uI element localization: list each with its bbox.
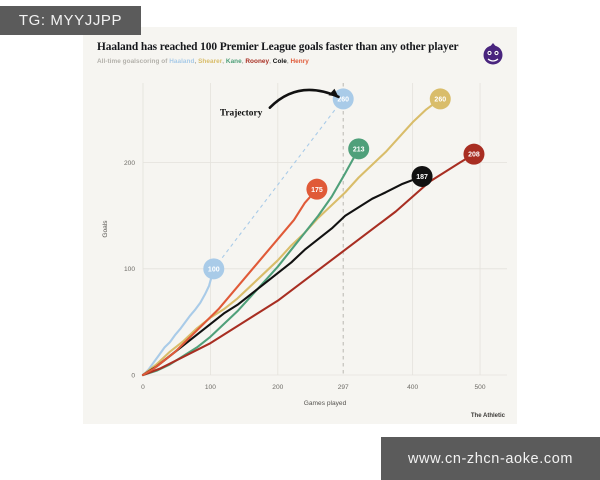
chart-subtitle: All-time goalscoring of Haaland, Shearer… bbox=[97, 58, 503, 65]
y-axis-label: Goals bbox=[102, 220, 109, 238]
tg-tag-overlay: TG: MYYJJPP bbox=[0, 6, 141, 35]
legend-name-shearer: Shearer bbox=[198, 58, 222, 65]
x-axis-label: Games played bbox=[304, 400, 347, 407]
series-line-henry bbox=[143, 189, 317, 375]
xtick-400: 400 bbox=[407, 384, 418, 391]
legend-name-haaland: Haaland bbox=[169, 58, 194, 65]
endpoint-shearer-value: 260 bbox=[434, 97, 446, 104]
tg-tag-text: TG: MYYJJPP bbox=[19, 12, 122, 29]
legend-name-kane: Kane bbox=[226, 58, 242, 65]
screenshot-stage: Haaland has reached 100 Premier League g… bbox=[0, 0, 600, 480]
premier-league-lion-logo bbox=[481, 41, 505, 67]
watermark-overlay: www.cn-zhcn-aoke.com bbox=[381, 437, 600, 480]
xtick-500: 500 bbox=[475, 384, 486, 391]
legend-name-henry: Henry bbox=[291, 58, 309, 65]
series-line-shearer bbox=[143, 99, 440, 375]
xtick-0: 0 bbox=[141, 384, 145, 391]
chart-card: Haaland has reached 100 Premier League g… bbox=[83, 27, 517, 424]
legend-name-rooney: Rooney bbox=[245, 58, 269, 65]
endpoint-henry-value: 175 bbox=[311, 187, 323, 194]
subtitle-prefix: All-time goalscoring of bbox=[97, 58, 169, 65]
endpoint-cole-value: 187 bbox=[416, 174, 428, 181]
trajectory-arrow-shaft bbox=[270, 90, 339, 108]
endpoint-haaland-value: 100 bbox=[208, 266, 220, 273]
ytick-0: 0 bbox=[131, 372, 135, 379]
ytick-100: 100 bbox=[124, 266, 135, 273]
ytick-200: 200 bbox=[124, 160, 135, 167]
chart-title: Haaland has reached 100 Premier League g… bbox=[97, 41, 503, 54]
chart-header: Haaland has reached 100 Premier League g… bbox=[83, 27, 517, 65]
series-name-list: Haaland, Shearer, Kane, Rooney, Cole, He… bbox=[169, 58, 309, 65]
xtick-200: 200 bbox=[272, 384, 283, 391]
source-credit: The Athletic bbox=[471, 413, 506, 419]
xtick-297: 297 bbox=[338, 384, 349, 391]
trajectory-annotation: Trajectory bbox=[220, 109, 263, 119]
endpoint-kane-value: 213 bbox=[353, 146, 365, 153]
endpoint-rooney-value: 208 bbox=[468, 152, 480, 159]
series-line-cole bbox=[143, 176, 422, 375]
plot-area: 0100200297400500Games played0100200Goals… bbox=[83, 75, 517, 424]
legend-name-cole: Cole bbox=[273, 58, 287, 65]
xtick-100: 100 bbox=[205, 384, 216, 391]
watermark-text: www.cn-zhcn-aoke.com bbox=[408, 451, 573, 467]
series-line-kane bbox=[143, 149, 359, 375]
goals-line-chart: 0100200297400500Games played0100200Goals… bbox=[83, 75, 517, 424]
